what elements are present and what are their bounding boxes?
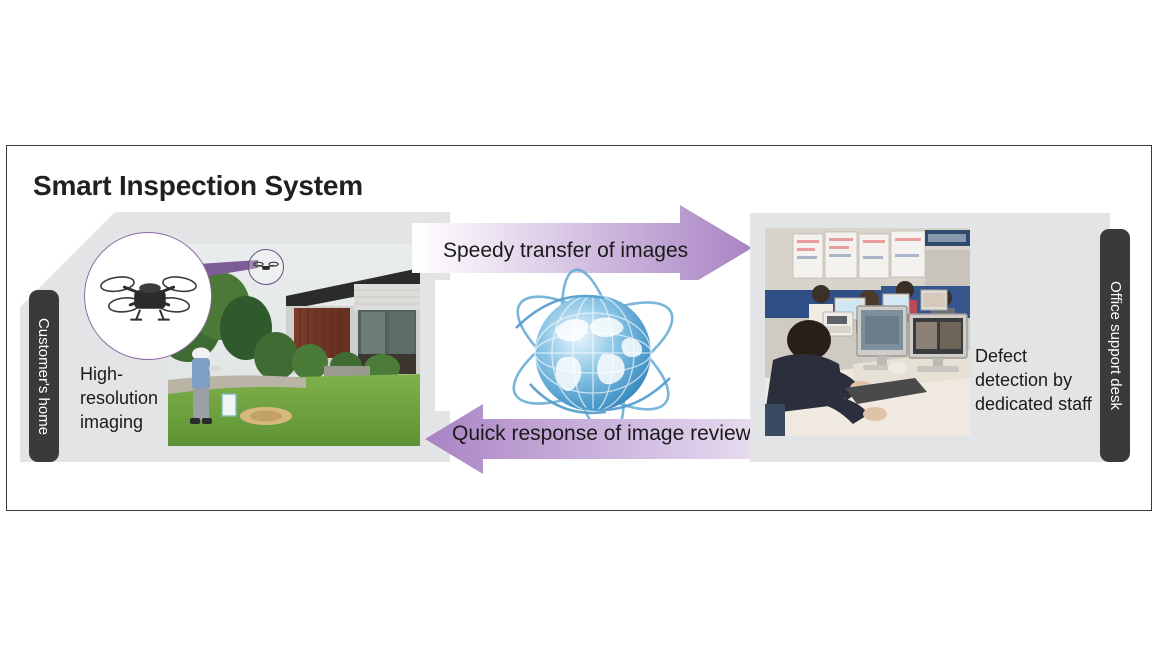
high-resolution-imaging-caption: High-resolution imaging [80, 363, 172, 434]
speedy-transfer-label: Speedy transfer of images [443, 239, 688, 263]
diagram-stage: Smart Inspection System [0, 0, 1160, 653]
drone-in-flight-icon [248, 249, 284, 285]
office-support-desk-tab[interactable]: Office support desk [1100, 229, 1130, 462]
page-title: Smart Inspection System [33, 170, 363, 202]
office-support-desk-tab-label: Office support desk [1107, 281, 1124, 410]
customer-home-tab[interactable]: Customer's home [29, 290, 59, 462]
customer-home-tab-label: Customer's home [36, 317, 53, 434]
defect-detection-caption: Defect detection by dedicated staff [975, 345, 1100, 416]
drone-closeup-icon [84, 232, 212, 360]
office-support-desk-photo [765, 228, 970, 436]
